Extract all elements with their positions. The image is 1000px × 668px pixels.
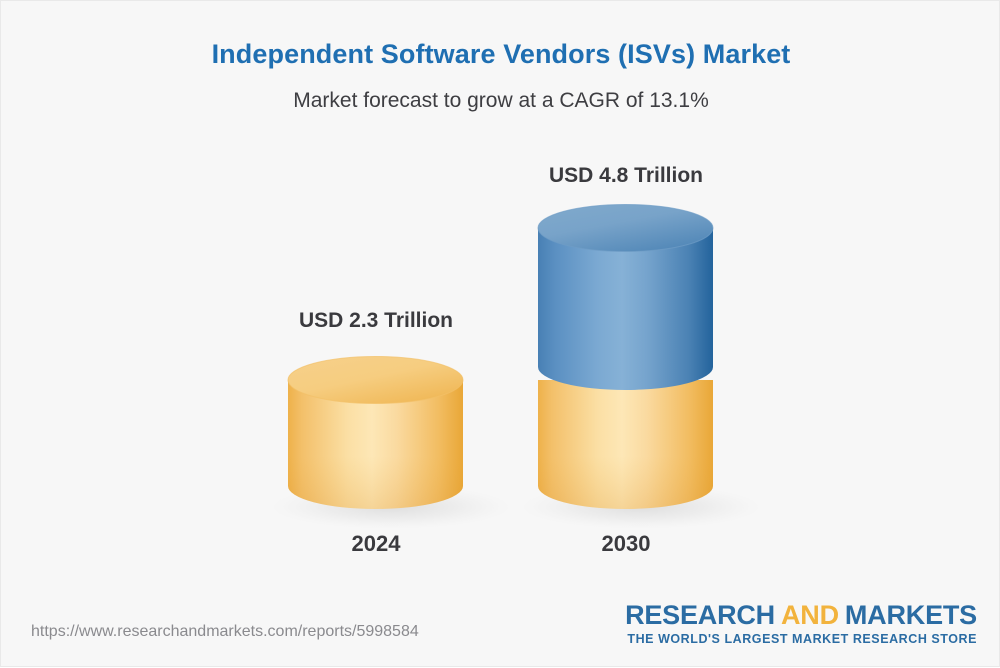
category-label-2030: 2030 (488, 531, 764, 557)
page-title: Independent Software Vendors (ISVs) Mark… (1, 39, 1000, 70)
bar-2024-top (288, 357, 463, 404)
shadow-2024 (271, 485, 511, 529)
logo-word-and: AND (781, 600, 839, 630)
value-label-2024: USD 2.3 Trillion (238, 309, 514, 333)
research-and-markets-logo[interactable]: RESEARCHANDMARKETS THE WORLD'S LARGEST M… (625, 601, 977, 646)
value-label-2030: USD 4.8 Trillion (488, 164, 764, 188)
infographic-canvas: Independent Software Vendors (ISVs) Mark… (0, 0, 1000, 667)
source-url[interactable]: https://www.researchandmarkets.com/repor… (31, 623, 419, 641)
bar-2030 (538, 205, 713, 510)
logo-tagline: THE WORLD'S LARGEST MARKET RESEARCH STOR… (625, 632, 977, 646)
logo-word-research: RESEARCH (625, 600, 775, 630)
logo-word-markets: MARKETS (845, 600, 977, 630)
bar-2030-rim (538, 205, 713, 252)
bar-2024-rim (288, 357, 463, 404)
logo-wordmark: RESEARCHANDMARKETS (625, 601, 977, 629)
category-label-2024: 2024 (238, 531, 514, 557)
shadow-2030 (521, 485, 761, 529)
bar-2030-top (538, 205, 713, 252)
bar-2024 (288, 357, 463, 509)
page-subtitle: Market forecast to grow at a CAGR of 13.… (1, 89, 1000, 113)
